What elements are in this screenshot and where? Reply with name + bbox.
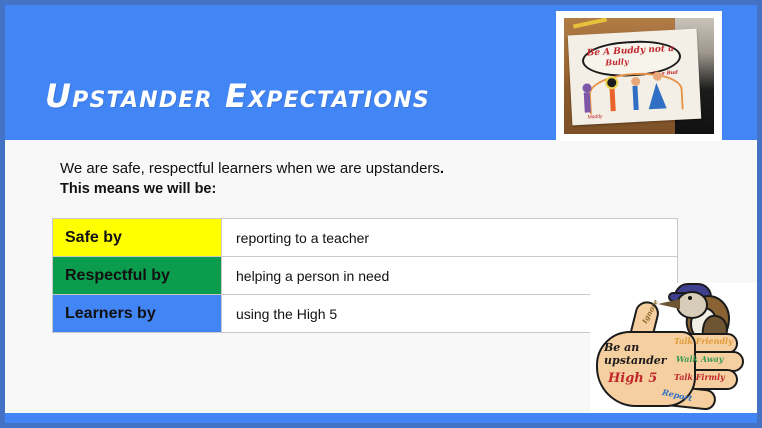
lead-text: We are safe, respectful learners when we…: [60, 160, 444, 177]
sub-text: This means we will be:: [60, 181, 216, 197]
bird-eye: [688, 296, 692, 300]
expectations-table-body: Safe by reporting to a teacher Respectfu…: [53, 219, 678, 333]
finger-label-talk-firmly: Talk Firmly: [674, 372, 725, 382]
finger-label-talk-friendly: Talk Friendly: [674, 336, 733, 346]
finger-label-walk-away: Walk Away: [676, 354, 723, 364]
row-label-respectful: Respectful by: [53, 257, 222, 295]
page-title: Upstander Expectations: [45, 77, 430, 115]
row-label-learners: Learners by: [53, 295, 222, 333]
poster-photo: Be A Buddy not a Bully Be a Bud Maddy: [564, 18, 714, 134]
high5-image: Ignore Talk Friendly Walk Away Talk Firm…: [590, 283, 762, 423]
row-value-safe: reporting to a teacher: [222, 219, 678, 257]
slide-bottom-strip: [5, 413, 762, 423]
bird-head: [676, 291, 708, 319]
palm-label-be-an-upstander: Be an upstander: [604, 341, 667, 367]
table-row: Respectful by helping a person in need: [53, 257, 678, 295]
poster-paper: Be A Buddy not a Bully Be a Bud Maddy: [568, 29, 702, 126]
poster-line-2: Bully: [605, 56, 629, 67]
stick-figure-purple: [584, 92, 591, 112]
slide: Upstander Expectations Be A Buddy not a …: [0, 0, 762, 428]
table-row: Safe by reporting to a teacher: [53, 219, 678, 257]
table-row: Learners by using the High 5: [53, 295, 678, 333]
palm-label-high-5: High 5: [608, 371, 657, 386]
row-label-safe: Safe by: [53, 219, 222, 257]
bird-beak: [658, 299, 680, 309]
palm-label-line-2: upstander: [604, 354, 667, 367]
high5-image-frame: Ignore Talk Friendly Walk Away Talk Firm…: [590, 283, 762, 423]
pencil-icon: [573, 18, 607, 29]
poster-signature: Maddy: [587, 114, 602, 121]
lead-text-period: .: [440, 160, 444, 177]
stick-figure-dress: [648, 82, 667, 109]
palm-label-line-1: Be an: [604, 341, 639, 354]
expectations-table: Safe by reporting to a teacher Respectfu…: [52, 218, 678, 333]
poster-photo-frame: Be A Buddy not a Bully Be a Bud Maddy: [556, 11, 722, 141]
stick-figure-purple-head: [582, 83, 591, 92]
lead-text-main: We are safe, respectful learners when we…: [60, 160, 440, 177]
stick-figure-dress-head: [652, 71, 661, 80]
